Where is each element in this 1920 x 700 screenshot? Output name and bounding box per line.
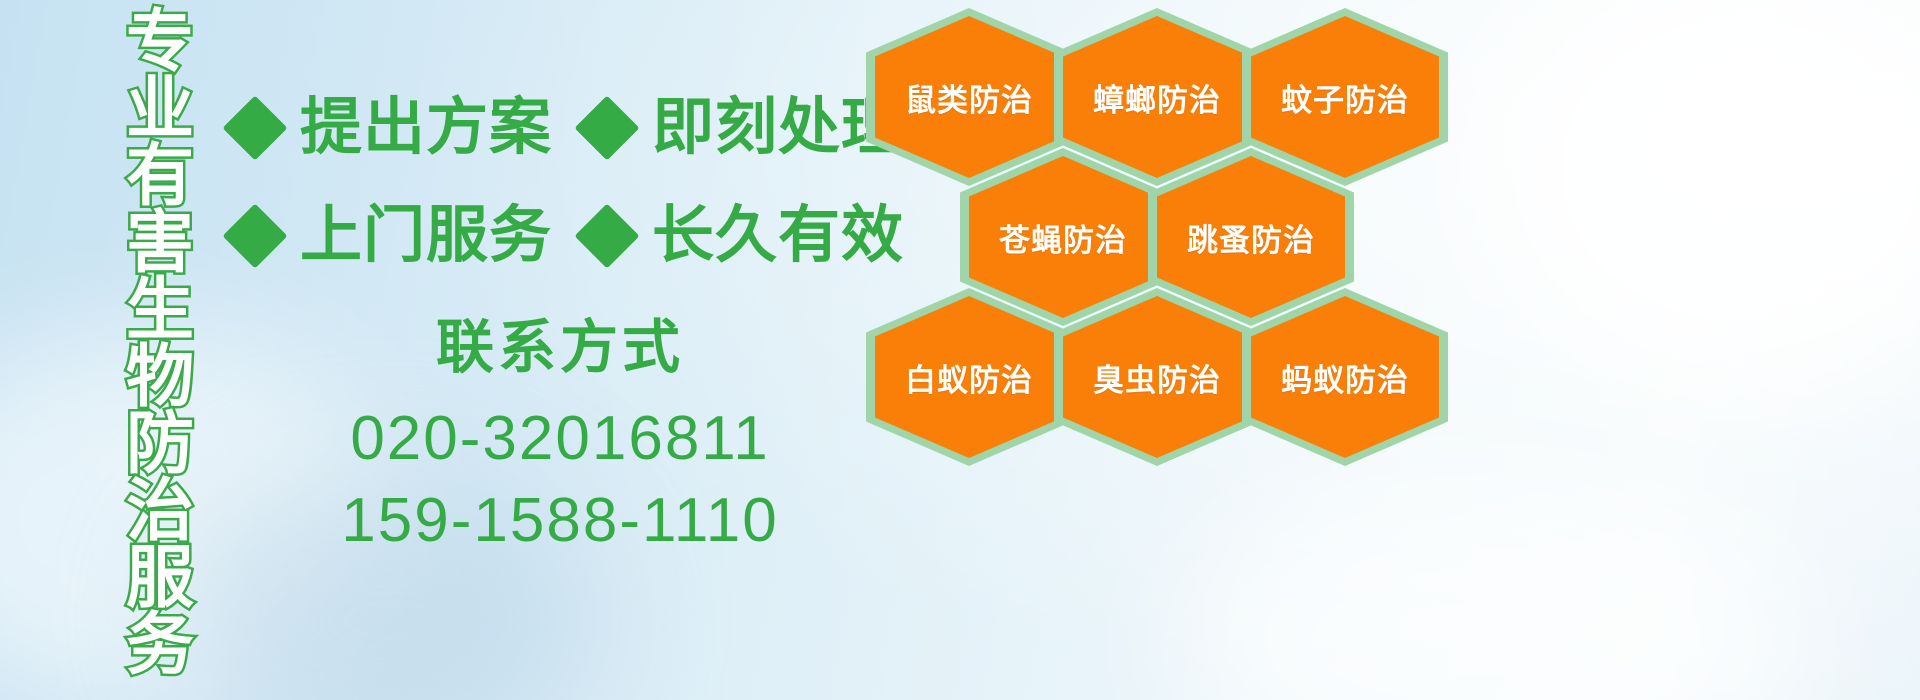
diamond-bullet-icon [574, 95, 639, 160]
service-hex-fill: 蚊子防治 [1251, 16, 1439, 178]
contact-block: 联系方式 020-32016811 159-1588-1110 [300, 312, 820, 562]
contact-phone-landline[interactable]: 020-32016811 [300, 398, 820, 480]
service-hex-fill: 白蚁防治 [875, 296, 1063, 458]
pest-control-banner: 专 业 有 害 生 物 防 治 服 务 提出方案 即刻处理 上门服务 [0, 0, 1920, 700]
diamond-bullet-icon [574, 203, 639, 268]
feature-row: 提出方案 即刻处理 [232, 74, 872, 182]
service-hex-label: 跳蚤防治 [1187, 215, 1315, 260]
contact-phone-mobile[interactable]: 159-1588-1110 [300, 480, 820, 562]
vertical-headline-char: 防 [126, 410, 194, 478]
service-hex-fill: 臭虫防治 [1063, 296, 1251, 458]
diamond-bullet-icon [222, 95, 287, 160]
feature-item-immediate-treatment: 即刻处理 [584, 97, 904, 159]
service-hex-label: 蚂蚁防治 [1281, 355, 1409, 400]
service-hex-fill: 蚂蚁防治 [1251, 296, 1439, 458]
service-hex-label: 蟑螂防治 [1093, 75, 1221, 120]
background-haze-top-right [1480, 0, 1920, 400]
vertical-headline-char: 害 [126, 209, 194, 277]
vertical-headline-char: 生 [126, 276, 194, 344]
vertical-headline-char: 业 [126, 75, 194, 143]
feature-item-propose-plan: 提出方案 [232, 97, 552, 159]
service-hex-fill: 苍蝇防治 [969, 156, 1157, 318]
vertical-headline-char: 有 [126, 142, 194, 210]
feature-row: 上门服务 长久有效 [232, 182, 872, 290]
service-hex-label: 白蚁防治 [905, 355, 1033, 400]
service-honeycomb-grid: 鼠类防治 蟑螂防治 蚊子防治 苍蝇防治 跳蚤防治 白蚁防治 [862, 0, 1462, 580]
feature-item-long-lasting: 长久有效 [584, 205, 904, 267]
feature-label: 上门服务 [300, 205, 552, 267]
feature-item-onsite-service: 上门服务 [232, 205, 552, 267]
vertical-headline-char: 务 [126, 611, 194, 679]
service-hex-fill: 跳蚤防治 [1157, 156, 1345, 318]
vertical-headline: 专 业 有 害 生 物 防 治 服 务 [108, 8, 212, 568]
service-hex-label: 臭虫防治 [1093, 355, 1221, 400]
service-hex-fill: 鼠类防治 [875, 16, 1063, 178]
vertical-headline-char: 物 [126, 343, 194, 411]
diamond-bullet-icon [222, 203, 287, 268]
vertical-headline-char: 服 [126, 544, 194, 612]
vertical-headline-char: 专 [126, 8, 194, 76]
feature-list: 提出方案 即刻处理 上门服务 长久有效 [232, 74, 872, 290]
service-hex-label: 苍蝇防治 [999, 215, 1127, 260]
service-hex-fill: 蟑螂防治 [1063, 16, 1251, 178]
vertical-headline-char: 治 [126, 477, 194, 545]
service-hex-label: 鼠类防治 [905, 75, 1033, 120]
contact-title: 联系方式 [300, 312, 820, 384]
service-hex-label: 蚊子防治 [1281, 75, 1409, 120]
feature-label: 提出方案 [300, 97, 552, 159]
